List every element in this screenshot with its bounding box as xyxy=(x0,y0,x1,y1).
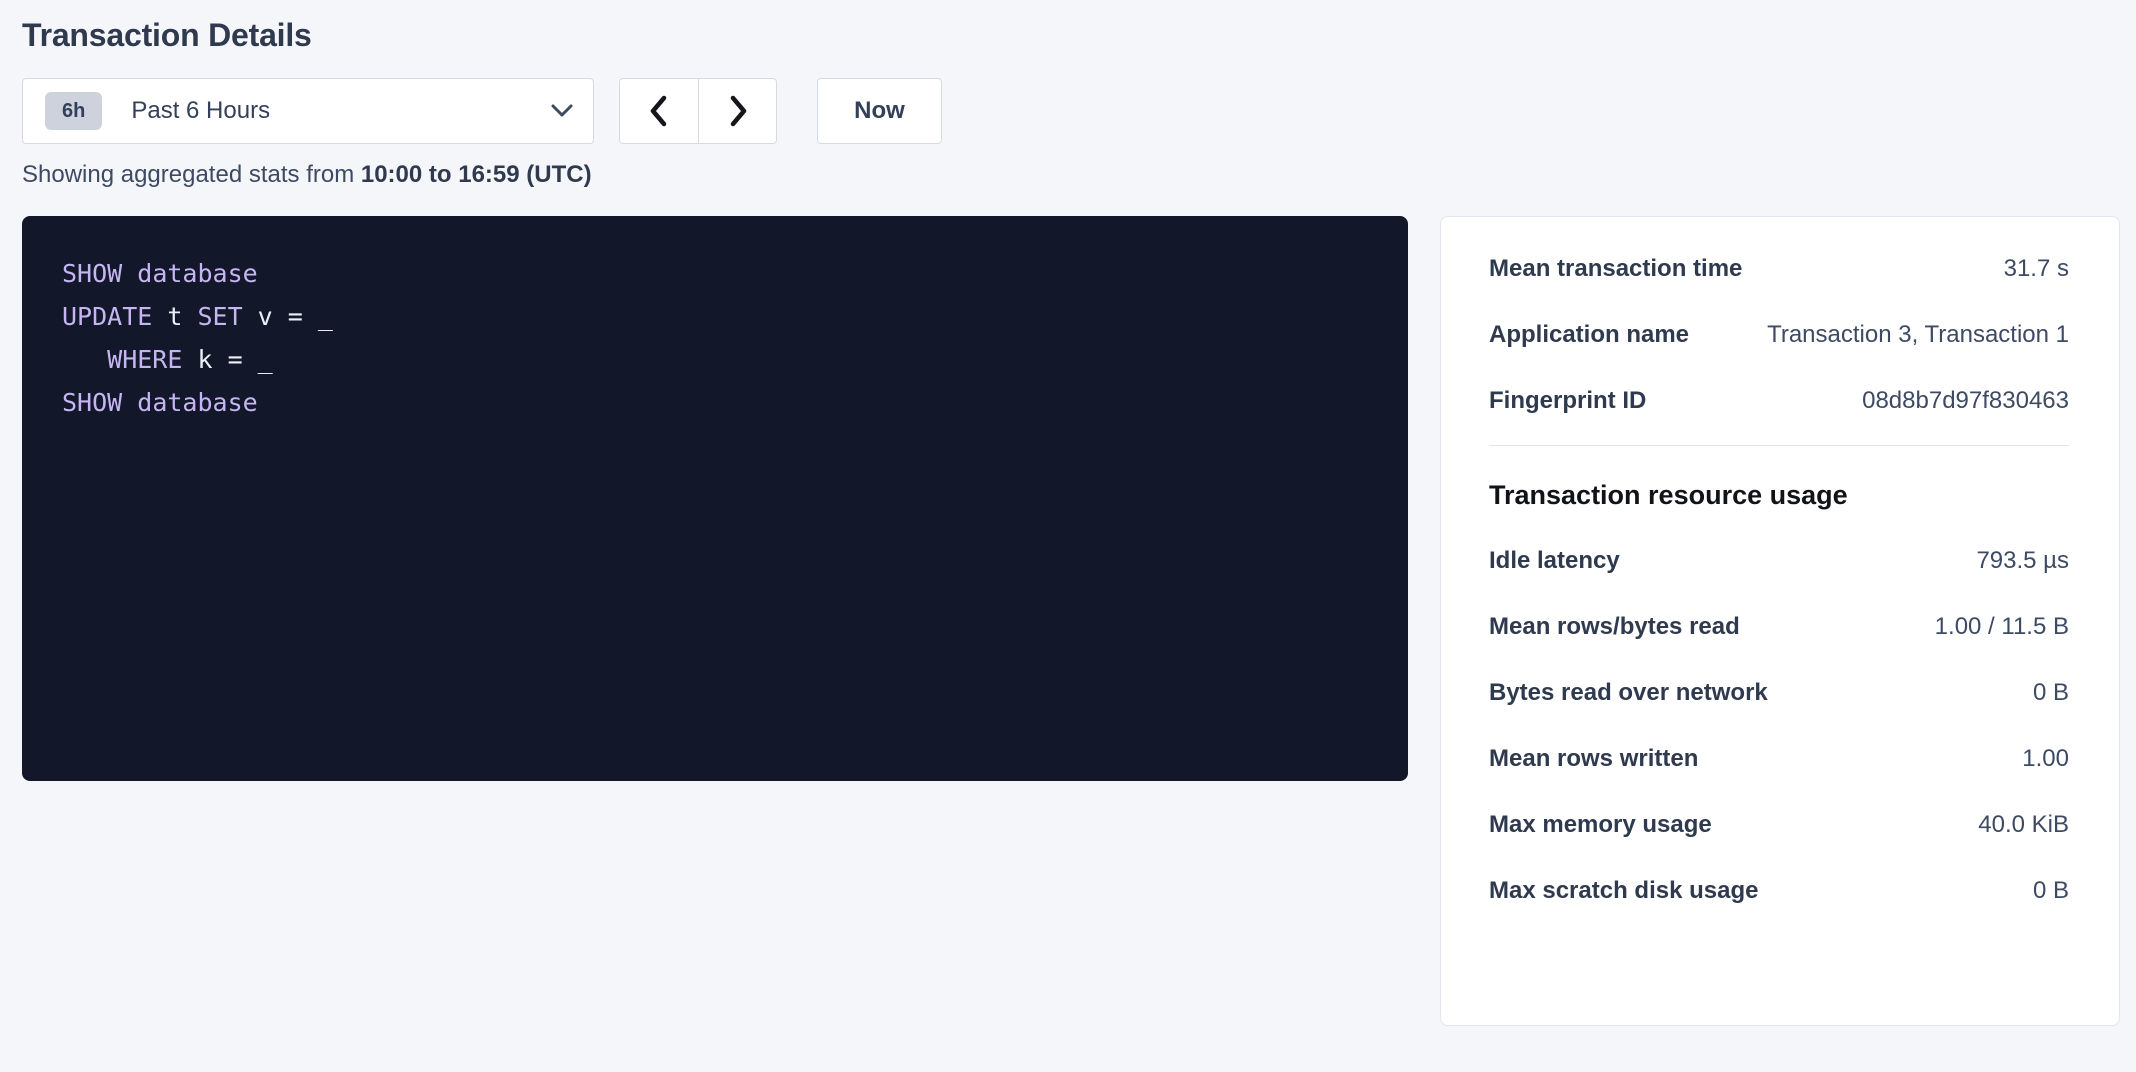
sql-line: UPDATE t SET v = _ xyxy=(62,295,1368,338)
chevron-down-icon xyxy=(551,104,573,117)
sql-keyword-token: database xyxy=(137,259,257,288)
stat-row: Idle latency793.5 µs xyxy=(1489,547,2069,575)
stat-value: 08d8b7d97f830463 xyxy=(1862,387,2069,415)
time-range-select[interactable]: 6h Past 6 Hours xyxy=(22,78,594,144)
stat-value: 0 B xyxy=(2033,877,2069,905)
sql-keyword-token: SHOW xyxy=(62,388,122,417)
stat-row: Mean rows written1.00 xyxy=(1489,745,2069,773)
stat-row: Max scratch disk usage0 B xyxy=(1489,877,2069,905)
stats-divider xyxy=(1489,445,2069,446)
sql-identifier-token xyxy=(122,388,137,417)
stat-label: Fingerprint ID xyxy=(1489,387,1646,415)
aggregation-range-prefix: Showing aggregated stats from xyxy=(22,161,361,188)
time-range-label: Past 6 Hours xyxy=(131,97,551,125)
resource-usage-heading: Transaction resource usage xyxy=(1489,480,2069,511)
stat-label: Mean transaction time xyxy=(1489,255,1742,283)
sql-keyword-token: UPDATE xyxy=(62,302,152,331)
sql-statement-code[interactable]: SHOW databaseUPDATE t SET v = _ WHERE k … xyxy=(62,252,1368,424)
now-button[interactable]: Now xyxy=(817,78,942,144)
stat-value: Transaction 3, Transaction 1 xyxy=(1767,321,2069,349)
sql-line: SHOW database xyxy=(62,252,1368,295)
stat-label: Application name xyxy=(1489,321,1689,349)
transaction-details-page: Transaction Details 6h Past 6 Hours xyxy=(0,0,2136,1072)
sql-keyword-token: database xyxy=(137,388,257,417)
next-period-button[interactable] xyxy=(698,78,777,144)
stat-label: Max scratch disk usage xyxy=(1489,877,1758,905)
sql-identifier-token: k = _ xyxy=(182,345,272,374)
stat-row: Fingerprint ID08d8b7d97f830463 xyxy=(1489,387,2069,415)
sql-identifier-token xyxy=(122,259,137,288)
stat-row: Max memory usage40.0 KiB xyxy=(1489,811,2069,839)
previous-period-button[interactable] xyxy=(619,78,698,144)
stat-row: Mean rows/bytes read1.00 / 11.5 B xyxy=(1489,613,2069,641)
stat-row: Bytes read over network0 B xyxy=(1489,679,2069,707)
stat-row: Application nameTransaction 3, Transacti… xyxy=(1489,321,2069,349)
stat-value: 40.0 KiB xyxy=(1978,811,2069,839)
sql-keyword-token: SET xyxy=(197,302,242,331)
stat-value: 1.00 xyxy=(2022,745,2069,773)
page-title: Transaction Details xyxy=(22,0,2114,54)
sql-keyword-token: WHERE xyxy=(107,345,182,374)
stat-label: Bytes read over network xyxy=(1489,679,1768,707)
sql-line: WHERE k = _ xyxy=(62,338,1368,381)
stat-label: Idle latency xyxy=(1489,547,1620,575)
stat-label: Mean rows/bytes read xyxy=(1489,613,1740,641)
sql-identifier-token: t xyxy=(152,302,197,331)
stat-value: 1.00 / 11.5 B xyxy=(1935,613,2069,641)
overview-stats-list: Mean transaction time31.7 sApplication n… xyxy=(1489,255,2069,415)
stat-value: 793.5 µs xyxy=(1976,547,2069,575)
time-nav-group xyxy=(619,78,777,144)
stat-value: 31.7 s xyxy=(2004,255,2069,283)
chevron-right-icon xyxy=(728,95,748,127)
sql-identifier-token: v = _ xyxy=(243,302,333,331)
sql-statement-card: SHOW databaseUPDATE t SET v = _ WHERE k … xyxy=(22,216,1408,781)
sql-keyword-token: SHOW xyxy=(62,259,122,288)
stat-row: Mean transaction time31.7 s xyxy=(1489,255,2069,283)
sql-line: SHOW database xyxy=(62,381,1368,424)
chevron-left-icon xyxy=(649,95,669,127)
resource-stats-list: Idle latency793.5 µsMean rows/bytes read… xyxy=(1489,547,2069,905)
time-range-toolbar: 6h Past 6 Hours xyxy=(22,78,2114,144)
transaction-stats-card: Mean transaction time31.7 sApplication n… xyxy=(1440,216,2120,1026)
sql-identifier-token xyxy=(62,345,107,374)
aggregation-range-text: Showing aggregated stats from 10:00 to 1… xyxy=(22,161,2114,190)
stat-value: 0 B xyxy=(2033,679,2069,707)
stat-label: Mean rows written xyxy=(1489,745,1698,773)
details-content: SHOW databaseUPDATE t SET v = _ WHERE k … xyxy=(22,216,2114,1026)
time-range-badge: 6h xyxy=(45,92,102,130)
aggregation-range-value: 10:00 to 16:59 (UTC) xyxy=(361,161,592,188)
stat-label: Max memory usage xyxy=(1489,811,1712,839)
